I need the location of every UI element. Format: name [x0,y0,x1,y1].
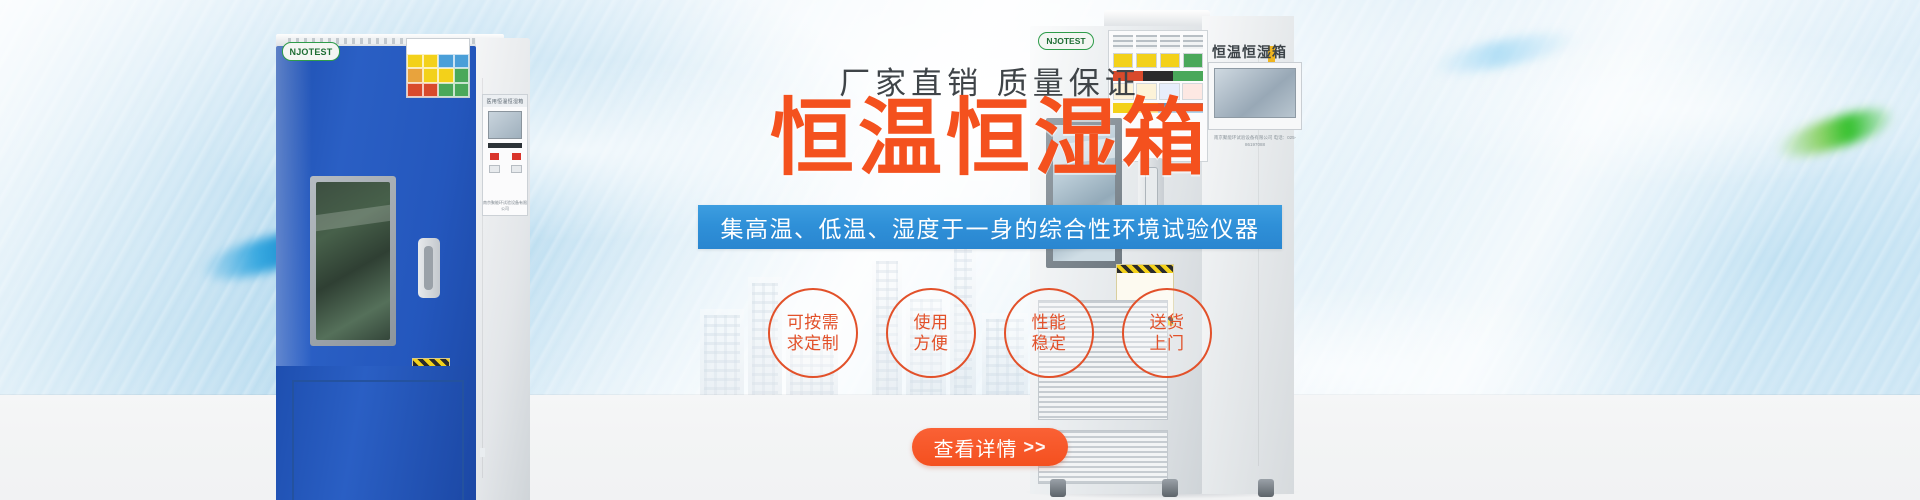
banner-subtitle-bar: 集高温、低温、湿度于一身的综合性环境试验仪器 [698,205,1282,249]
badge-line-2: 上门 [1150,333,1185,354]
feature-badge[interactable]: 使用 方便 [886,288,976,378]
banner-copy-block: 厂家直销 质量保证 恒温恒湿箱 集高温、低温、湿度于一身的综合性环境试验仪器 可… [690,0,1290,500]
product-image-left-blue-chamber: NJOTEST 医用恒温恒湿箱 [268,28,533,493]
control-button-row-left [483,165,527,173]
control-led-row-left [483,153,527,160]
feature-badge-list: 可按需 求定制 使用 方便 性能 稳定 送货 上门 [690,288,1290,378]
control-panel-title-left: 医用恒温恒湿箱 [483,95,527,107]
chamber-door-handle-left [418,238,440,298]
view-details-label: 查看详情 [933,433,1017,462]
banner-subtitle-text: 集高温、低温、湿度于一身的综合性环境试验仪器 [721,210,1260,244]
control-strip-left [488,143,522,148]
feature-badge[interactable]: 可按需 求定制 [768,288,858,378]
view-details-button[interactable]: 查看详情 >> [912,428,1068,466]
brand-logo-left: NJOTEST [282,42,340,61]
badge-line-1: 可按需 [787,312,840,333]
promo-banner: NJOTEST 医用恒温恒湿箱 [0,0,1920,500]
chevron-right-double-icon: >> [1023,437,1046,458]
control-panel-footer-left: 南京聚能环试验设备有限公司 [483,200,527,212]
control-panel-left: 医用恒温恒湿箱 南京聚能环试验设备有限公司 [482,94,528,216]
warning-label-left [406,38,470,98]
badge-line-2: 稳定 [1032,333,1067,354]
badge-line-1: 使用 [914,312,949,333]
control-screen-left [488,111,522,139]
badge-line-2: 方便 [914,333,949,354]
chamber-viewing-window-left [310,176,396,346]
feature-badge[interactable]: 性能 稳定 [1004,288,1094,378]
base-marker-left [480,448,485,457]
banner-headline: 恒温恒湿箱 [690,96,1290,180]
chamber-vent-grille-left [292,380,464,500]
feature-badge[interactable]: 送货 上门 [1122,288,1212,378]
badge-line-2: 求定制 [787,333,840,354]
badge-line-1: 性能 [1032,312,1067,333]
badge-line-1: 送货 [1150,312,1185,333]
